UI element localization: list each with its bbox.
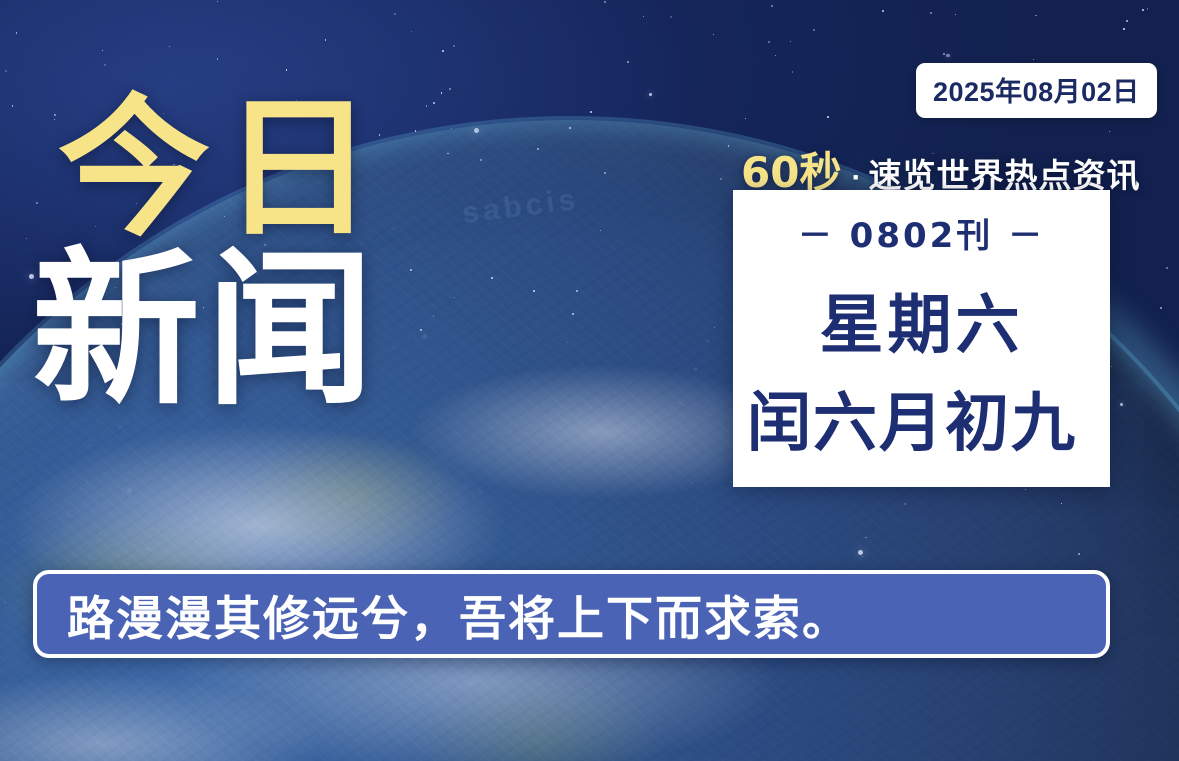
headline-line-today: 今日 [58, 96, 386, 242]
quote-banner: 路漫漫其修远兮，吾将上下而求索。 [33, 570, 1110, 658]
quote-text: 路漫漫其修远兮，吾将上下而求索。 [37, 580, 851, 649]
info-card-content: － 0802刊 － 星期六 闰六月初九 [733, 190, 1110, 487]
headline: 今日 新闻 [58, 96, 386, 411]
info-card: － 0802刊 － 星期六 闰六月初九 [733, 190, 1110, 487]
issue-number: － 0802刊 － [733, 208, 1110, 257]
weekday-label: 星期六 [733, 274, 1110, 366]
headline-line-news: 新闻 [32, 250, 386, 411]
news-poster: sabcis 今日 新闻 2025年08月02日 60秒 · 速览世界热点资讯 … [0, 0, 1179, 761]
date-badge: 2025年08月02日 [916, 63, 1157, 118]
lunar-date-label: 闰六月初九 [747, 372, 1077, 464]
